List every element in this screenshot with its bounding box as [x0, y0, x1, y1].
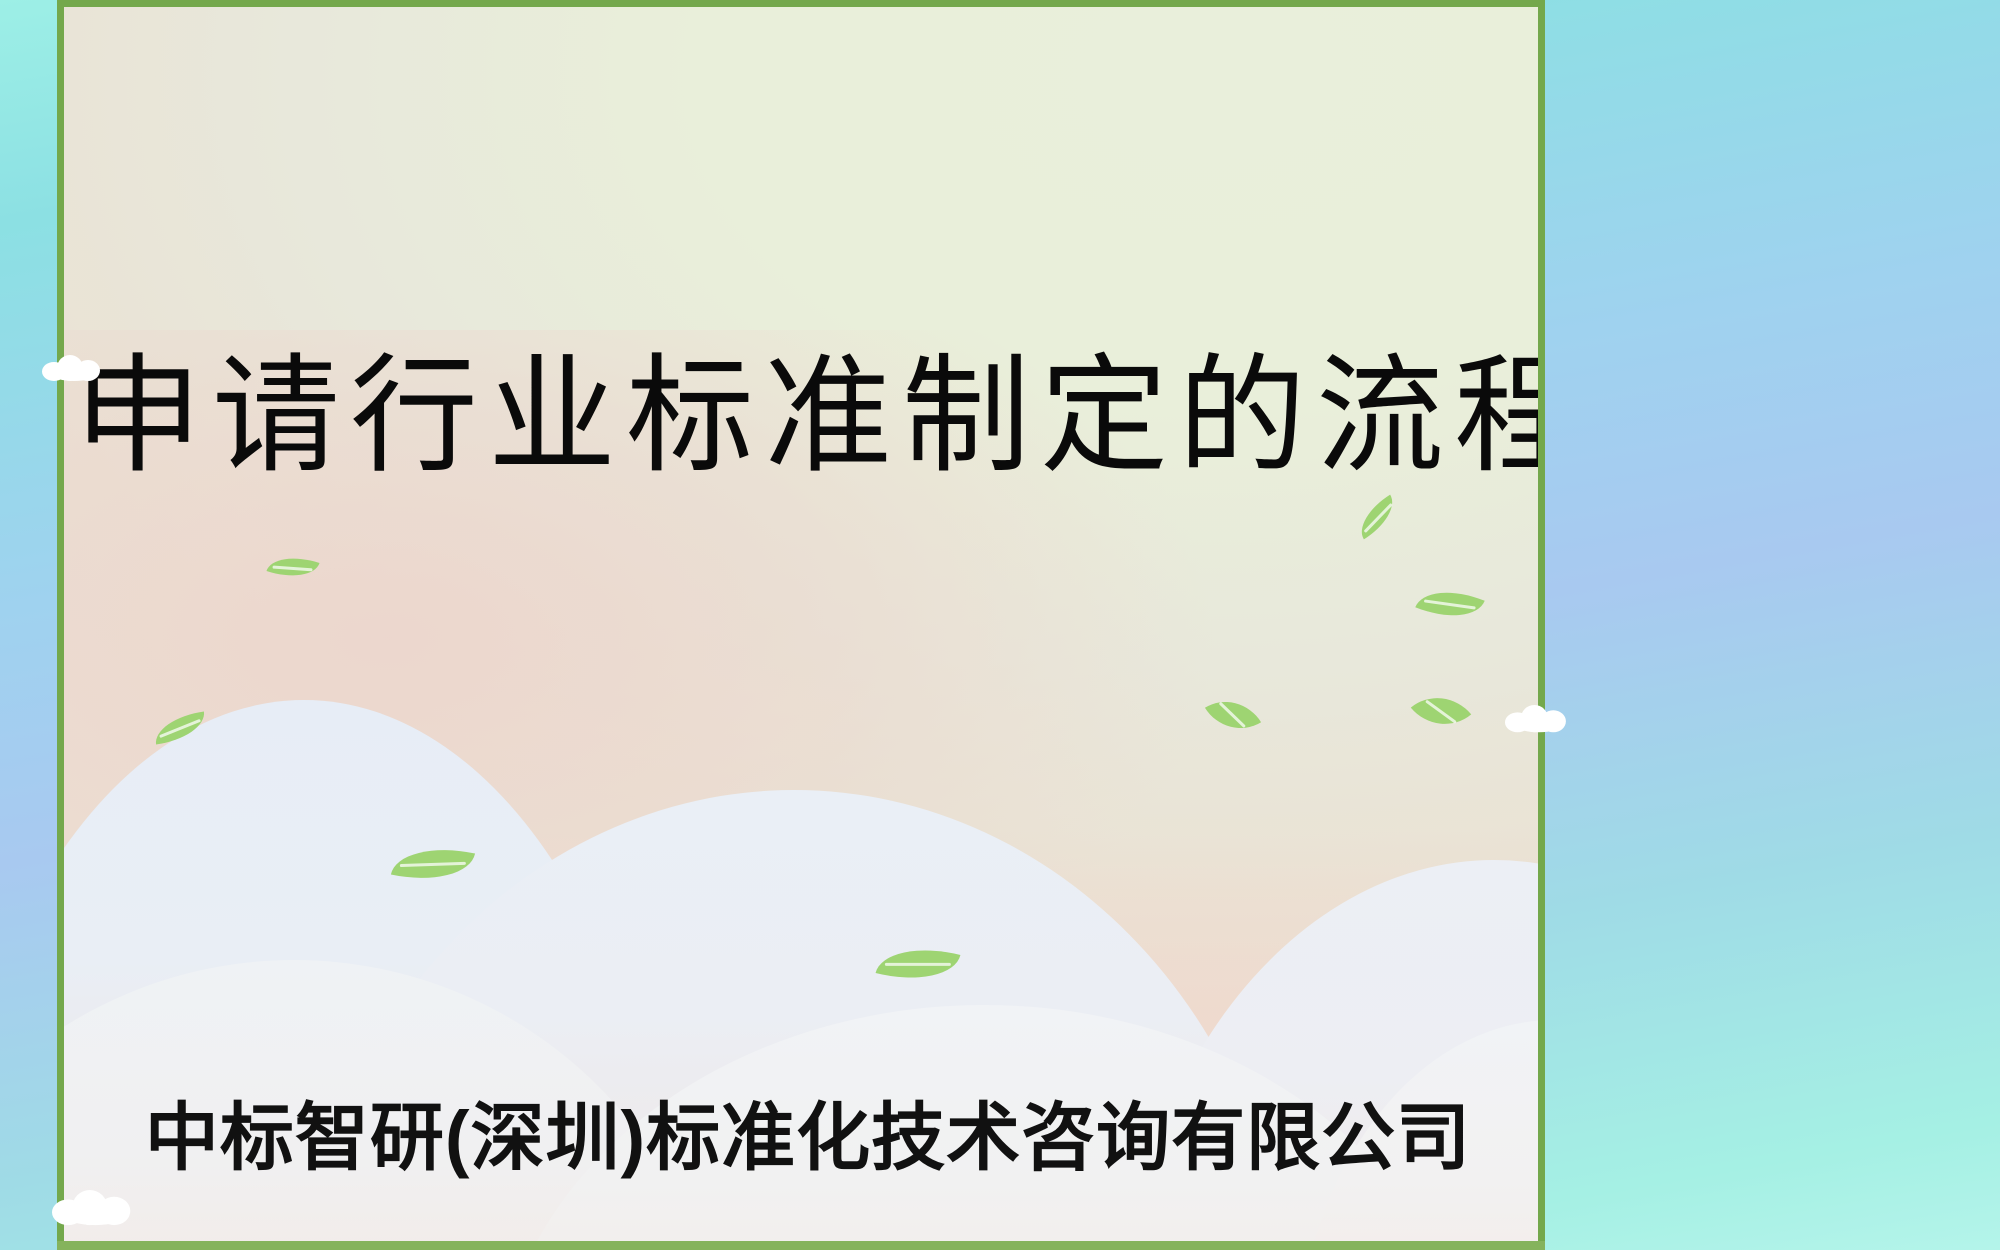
- presentation-slide: 申请行业标准制定的流程 中标智研(深圳)标准化技术咨询有限公司: [0, 0, 2000, 1250]
- leaf-icon: [1351, 495, 1403, 540]
- leaf-icon: [1205, 687, 1261, 744]
- title-block: 申请行业标准制定的流程: [64, 345, 1545, 488]
- top-green-rail: [57, 0, 1545, 7]
- cloud-puff-icon: [42, 355, 106, 381]
- page-title: 申请行业标准制定的流程: [64, 345, 1545, 488]
- cloud-puff-icon: [52, 1190, 138, 1225]
- subtitle-block: 中标智研(深圳)标准化技术咨询有限公司: [64, 1097, 1545, 1178]
- leaf-icon: [266, 548, 319, 586]
- bottom-green-rail: [57, 1241, 1545, 1250]
- company-name: 中标智研(深圳)标准化技术咨询有限公司: [64, 1097, 1545, 1178]
- leaf-icon: [1415, 578, 1484, 631]
- cloud-puff-icon: [1505, 705, 1572, 732]
- slide-page: 申请行业标准制定的流程 中标智研(深圳)标准化技术咨询有限公司: [57, 0, 1545, 1250]
- leaf-icon: [1411, 681, 1471, 742]
